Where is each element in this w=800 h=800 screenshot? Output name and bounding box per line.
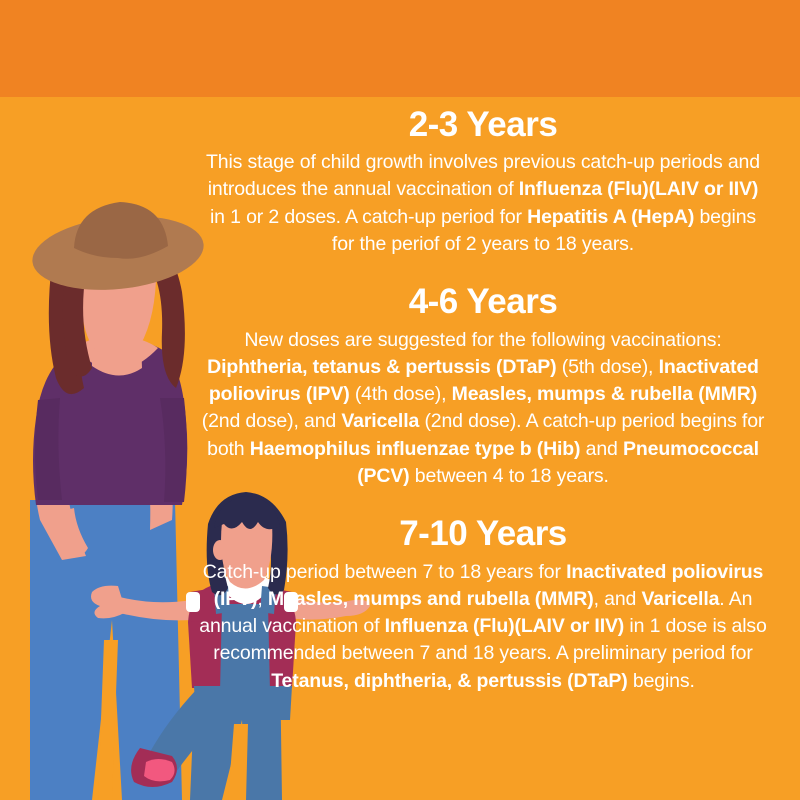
woman-left-hand [56, 508, 88, 558]
girl-left-hand [91, 586, 126, 619]
woman-face [81, 240, 156, 359]
section-body-2-3-years: This stage of child growth involves prev… [198, 149, 768, 258]
woman-jeans-leg-gap [98, 640, 118, 800]
section-7-10-years: 7-10 Years Catch-up period between 7 to … [198, 514, 768, 695]
girl-left-arm [96, 595, 192, 621]
girl-shoe [131, 748, 177, 787]
girl-legs-gap [228, 724, 248, 800]
adult-woman-figure [29, 202, 208, 800]
woman-left-arm [34, 410, 86, 560]
woman-ear [73, 287, 91, 313]
content-column: 2-3 Years This stage of child growth inv… [198, 105, 768, 695]
header-band [0, 0, 800, 97]
section-heading-7-10-years: 7-10 Years [198, 514, 768, 553]
section-heading-2-3-years: 2-3 Years [198, 105, 768, 144]
woman-neck [92, 310, 142, 376]
woman-hair-front [74, 228, 164, 290]
woman-jeans [30, 500, 182, 800]
woman-hair-back [49, 219, 185, 394]
section-2-3-years: 2-3 Years This stage of child growth inv… [198, 105, 768, 258]
woman-shirt-sleeve-right [160, 398, 187, 502]
woman-shirt-sleeve-left [35, 398, 62, 500]
woman-hat-crown [74, 202, 168, 259]
section-4-6-years: 4-6 Years New doses are suggested for th… [198, 282, 768, 490]
section-body-4-6-years: New doses are suggested for the followin… [198, 327, 768, 491]
woman-hat-brim [29, 208, 208, 298]
immunization-infographic-poster: Immunizations / 2 - 10 years 2-3 Years T… [0, 0, 800, 800]
girl-raised-leg [150, 690, 216, 772]
section-body-7-10-years: Catch-up period between 7 to 18 years fo… [198, 559, 768, 695]
woman-hair-side-lock [63, 264, 92, 377]
woman-right-arm [140, 420, 173, 530]
woman-shirt [33, 341, 187, 505]
woman-shirt-collar [74, 336, 158, 370]
section-heading-4-6-years: 4-6 Years [198, 282, 768, 321]
girl-shoe-highlight [144, 759, 175, 781]
